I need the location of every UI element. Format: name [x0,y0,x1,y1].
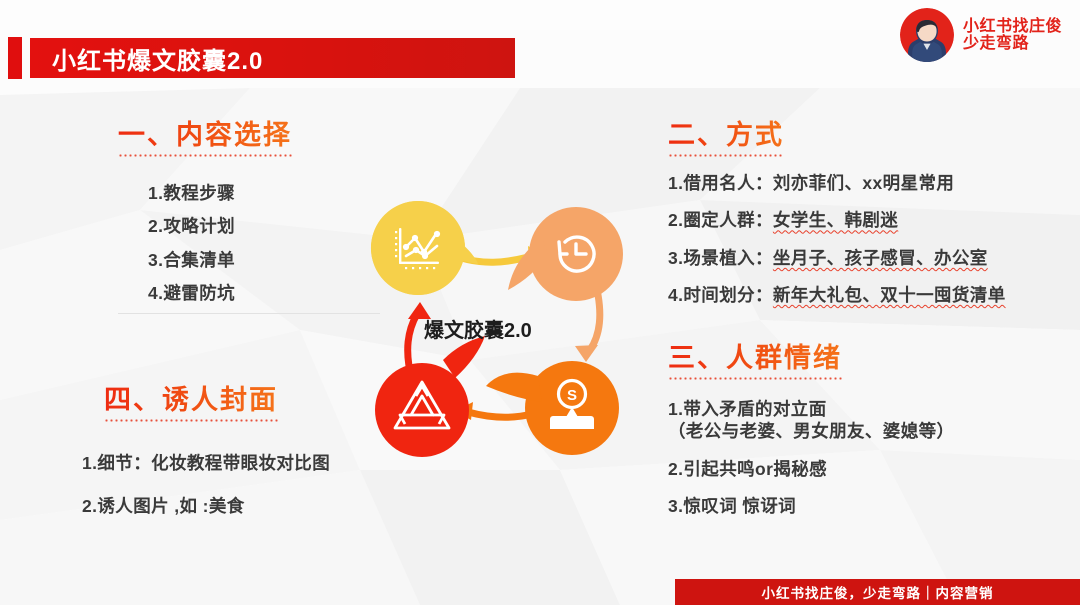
title-accent-bar [8,37,22,79]
footer-text: 小红书找庄俊，少走弯路｜内容营销 [762,582,994,602]
heading-underline-dots [668,377,842,380]
cycle-node-money: S [486,361,619,455]
section-3-list: 1.带入矛盾的对立面 （老公与老婆、男女朋友、婆媳等） 2.引起共鸣or揭秘感 … [668,398,954,518]
list-item: 2.诱人图片 ,如 :美食 [82,495,330,517]
item-value: 刘亦菲们、xx明星常用 [773,173,954,193]
section-1-title: 一、内容选择 [118,113,292,152]
slide-title-banner: 小红书爆文胶囊2.0 [30,38,515,78]
heading-underline-dots [104,419,278,422]
footer-bar: 小红书找庄俊，少走弯路｜内容营销 [675,579,1080,605]
list-item: 2.圈定人群：女学生、韩剧迷 [668,209,1006,231]
item-label: 1.借用名人： [668,173,773,193]
heading-underline-dots [668,154,784,157]
list-item: 1.细节：化妆教程带眼妆对比图 [82,452,330,474]
list-item: 1.带入矛盾的对立面 [668,398,954,420]
section-4-title: 四、诱人封面 [104,378,278,417]
list-item: 3.场景植入：坐月子、孩子感冒、办公室 [668,247,1006,269]
page-title: 小红书爆文胶囊2.0 [30,41,263,76]
section-2-title: 二、方式 [668,113,784,152]
brand-logo: 小红书找庄俊 少走弯路 [900,8,1062,62]
section-heading-4: 四、诱人封面 [104,378,278,422]
section-heading-2: 二、方式 [668,113,784,157]
list-item: （老公与老婆、男女朋友、婆媳等） [668,420,954,442]
heading-underline-dots [118,154,292,157]
section-2-list: 1.借用名人：刘亦菲们、xx明星常用 2.圈定人群：女学生、韩剧迷 3.场景植入… [668,172,1006,307]
list-item: 4.时间划分：新年大礼包、双十一囤货清单 [668,284,1006,306]
center-label: 爆文胶囊2.0 [424,314,532,343]
list-item: 3.合集清单 [148,249,235,271]
list-item: 2.攻略计划 [148,215,235,237]
section-heading-3: 三、人群情绪 [668,336,842,380]
section-1-list: 1.教程步骤 2.攻略计划 3.合集清单 4.避雷防坑 [148,182,235,305]
section-3-title: 三、人群情绪 [668,336,842,375]
cycle-node-recycle [375,336,485,457]
item-value: 坐月子、孩子感冒、办公室 [773,248,988,268]
logo-line-1: 小红书找庄俊 [963,18,1062,35]
cycle-node-chart [371,201,478,295]
item-value: 女学生、韩剧迷 [773,210,898,230]
item-label: 2.圈定人群： [668,210,773,230]
person-avatar-icon [900,8,954,62]
item-label: 4.时间划分： [668,285,773,305]
svg-text:S: S [567,387,577,404]
cycle-node-clock [508,207,623,301]
item-value: 新年大礼包、双十一囤货清单 [773,285,1006,305]
list-item: 3.惊叹词 惊讶词 [668,495,954,517]
list-item: 2.引起共鸣or揭秘感 [668,458,954,480]
list-item: 1.教程步骤 [148,182,235,204]
section-heading-1: 一、内容选择 [118,113,292,157]
logo-line-2: 少走弯路 [963,35,1062,52]
list-item: 1.借用名人：刘亦菲们、xx明星常用 [668,172,1006,194]
section-4-list: 1.细节：化妆教程带眼妆对比图 2.诱人图片 ,如 :美食 [82,452,330,518]
section-divider [118,313,380,314]
list-item: 4.避雷防坑 [148,282,235,304]
item-label: 3.场景植入： [668,248,773,268]
